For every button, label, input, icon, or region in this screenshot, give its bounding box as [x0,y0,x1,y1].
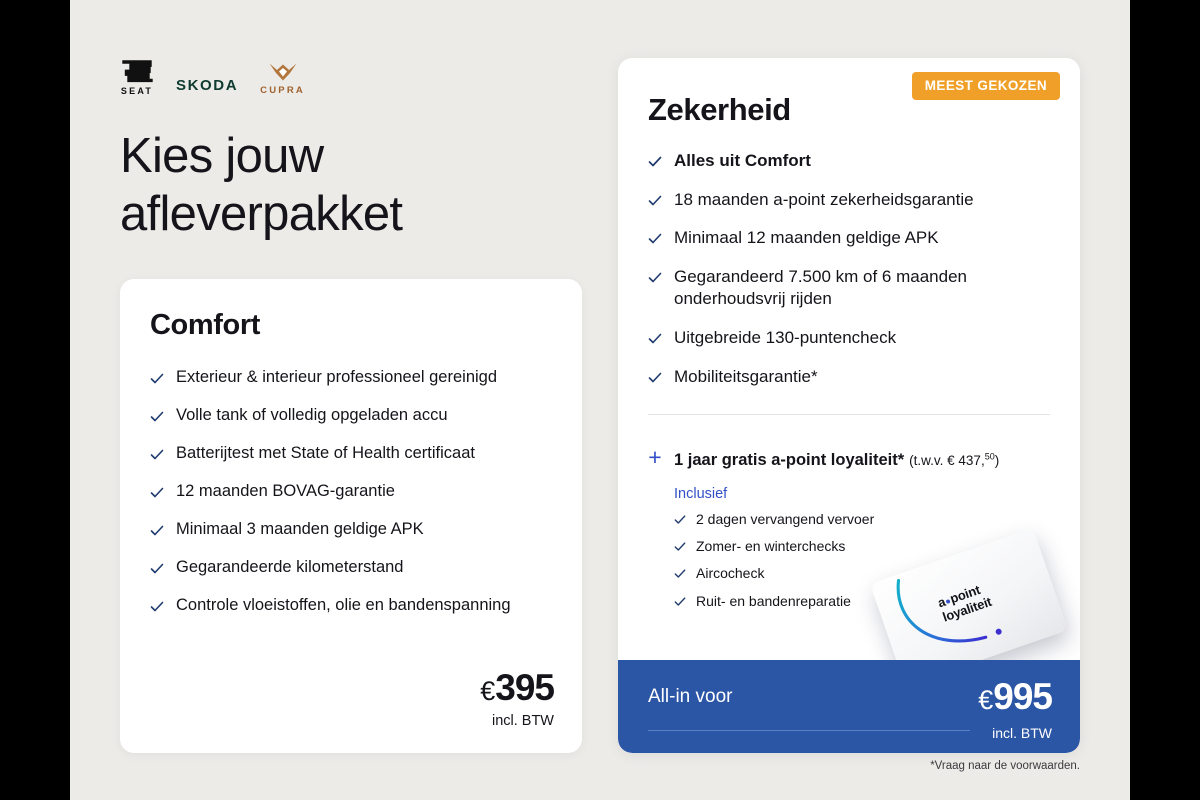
brand-skoda-wordmark: SKODA [176,77,238,94]
list-item-label: Exterieur & interieur professioneel gere… [176,367,497,389]
check-icon [150,448,164,462]
footnote: *Vraag naar de voorwaarden. [930,760,1080,772]
comfort-price-note: incl. BTW [480,713,554,729]
loyalty-value-prefix: (t.w.v. € 437, [909,453,985,468]
check-icon [674,568,686,580]
zekerheid-price-label: All-in voor [648,686,732,708]
list-item-label: Zomer- en winterchecks [696,537,845,555]
check-icon [150,486,164,500]
screenshot-stage: SEAT SKODA CUPRA Kies jouw afleverpakket… [0,0,1200,800]
list-item-label: Uitgebreide 130-puntencheck [674,327,896,350]
check-icon [150,410,164,424]
list-item-label: Volle tank of volledig opgeladen accu [176,405,448,427]
list-item: Alles uit Comfort [648,150,1058,173]
check-icon [648,332,662,346]
loyalty-header: + 1 jaar gratis a-point loyaliteit*(t.w.… [648,446,1060,470]
list-item: Batterijtest met State of Health certifi… [150,443,554,465]
seat-logo-icon [120,60,154,84]
zekerheid-feature-list: Alles uit Comfort 18 maanden a-point zek… [648,150,1058,404]
section-divider [648,414,1050,415]
plus-icon: + [648,446,662,469]
loyalty-included-label: Inclusief [674,486,1060,502]
comfort-price-block: €395 incl. BTW [480,669,554,729]
zekerheid-price-bar: All-in voor €995 incl. BTW [618,660,1080,753]
brand-skoda: SKODA [176,77,238,96]
package-card-zekerheid[interactable]: MEEST GEKOZEN Zekerheid Alles uit Comfor… [618,58,1080,753]
check-icon [674,596,686,608]
brand-seat: SEAT [120,60,154,96]
zekerheid-price-amount: 995 [993,676,1052,717]
check-icon [648,194,662,208]
list-item-label: Batterijtest met State of Health certifi… [176,443,475,465]
check-icon [150,562,164,576]
check-icon [674,541,686,553]
letterbox-left [0,0,70,800]
check-icon [150,524,164,538]
list-item: Gegarandeerd 7.500 km of 6 maanden onder… [648,266,1058,311]
loyalty-value-cents: 50 [985,452,995,462]
list-item: Minimaal 12 maanden geldige APK [648,227,1058,250]
list-item-label: Mobiliteitsgarantie* [674,366,818,389]
list-item: 2 dagen vervangend vervoer [674,510,1060,528]
list-item-label: Ruit- en bandenreparatie [696,592,851,610]
check-icon [150,372,164,386]
currency-symbol: € [978,685,992,715]
list-item-label: 2 dagen vervangend vervoer [696,510,874,528]
list-item: Uitgebreide 130-puntencheck [648,327,1058,350]
check-icon [648,271,662,285]
brand-logo-row: SEAT SKODA CUPRA [120,56,305,96]
comfort-feature-list: Exterieur & interieur professioneel gere… [150,367,554,633]
price-bar-rule [648,730,970,731]
list-item-label: 18 maanden a-point zekerheidsgarantie [674,189,974,212]
list-item-label: Gegarandeerd 7.500 km of 6 maanden onder… [674,266,1058,311]
comfort-price-amount: 395 [495,667,554,708]
list-item: 12 maanden BOVAG-garantie [150,481,554,503]
zekerheid-price: €995 [978,678,1052,715]
loyalty-title: 1 jaar gratis a-point loyaliteit* [674,451,904,469]
zekerheid-price-note: incl. BTW [992,725,1052,741]
check-icon [150,600,164,614]
list-item-label: 12 maanden BOVAG-garantie [176,481,395,503]
list-item-label: Aircocheck [696,564,764,582]
list-item-label: Controle vloeistoffen, olie en bandenspa… [176,595,511,617]
list-item: Mobiliteitsgarantie* [648,366,1058,389]
brand-seat-wordmark: SEAT [121,86,153,96]
brand-cupra-wordmark: CUPRA [260,85,305,96]
check-icon [648,371,662,385]
comfort-price: €395 [480,669,554,706]
package-card-comfort[interactable]: Comfort Exterieur & interieur profession… [120,279,582,753]
list-item-label: Alles uit Comfort [674,150,811,173]
list-item: Exterieur & interieur professioneel gere… [150,367,554,389]
list-item-label: Gegarandeerde kilometerstand [176,557,403,579]
check-icon [648,232,662,246]
list-item-label: Minimaal 3 maanden geldige APK [176,519,424,541]
check-icon [674,514,686,526]
list-item-label: Minimaal 12 maanden geldige APK [674,227,939,250]
list-item: Volle tank of volledig opgeladen accu [150,405,554,427]
page-canvas: SEAT SKODA CUPRA Kies jouw afleverpakket… [70,0,1130,800]
page-title: Kies jouw afleverpakket [120,128,590,244]
list-item: Minimaal 3 maanden geldige APK [150,519,554,541]
status-badge: MEEST GEKOZEN [912,72,1060,100]
cupra-logo-icon [268,62,298,82]
comfort-title: Comfort [150,309,260,342]
loyalty-header-text: 1 jaar gratis a-point loyaliteit*(t.w.v.… [674,451,999,470]
brand-cupra: CUPRA [260,62,305,96]
list-item: 18 maanden a-point zekerheidsgarantie [648,189,1058,212]
list-item: Gegarandeerde kilometerstand [150,557,554,579]
letterbox-right [1130,0,1200,800]
loyalty-value: (t.w.v. € 437,50) [909,453,999,468]
zekerheid-title: Zekerheid [648,92,791,128]
currency-symbol: € [480,676,494,706]
loyalty-value-suffix: ) [995,453,1000,468]
list-item: Controle vloeistoffen, olie en bandenspa… [150,595,554,617]
check-icon [648,155,662,169]
